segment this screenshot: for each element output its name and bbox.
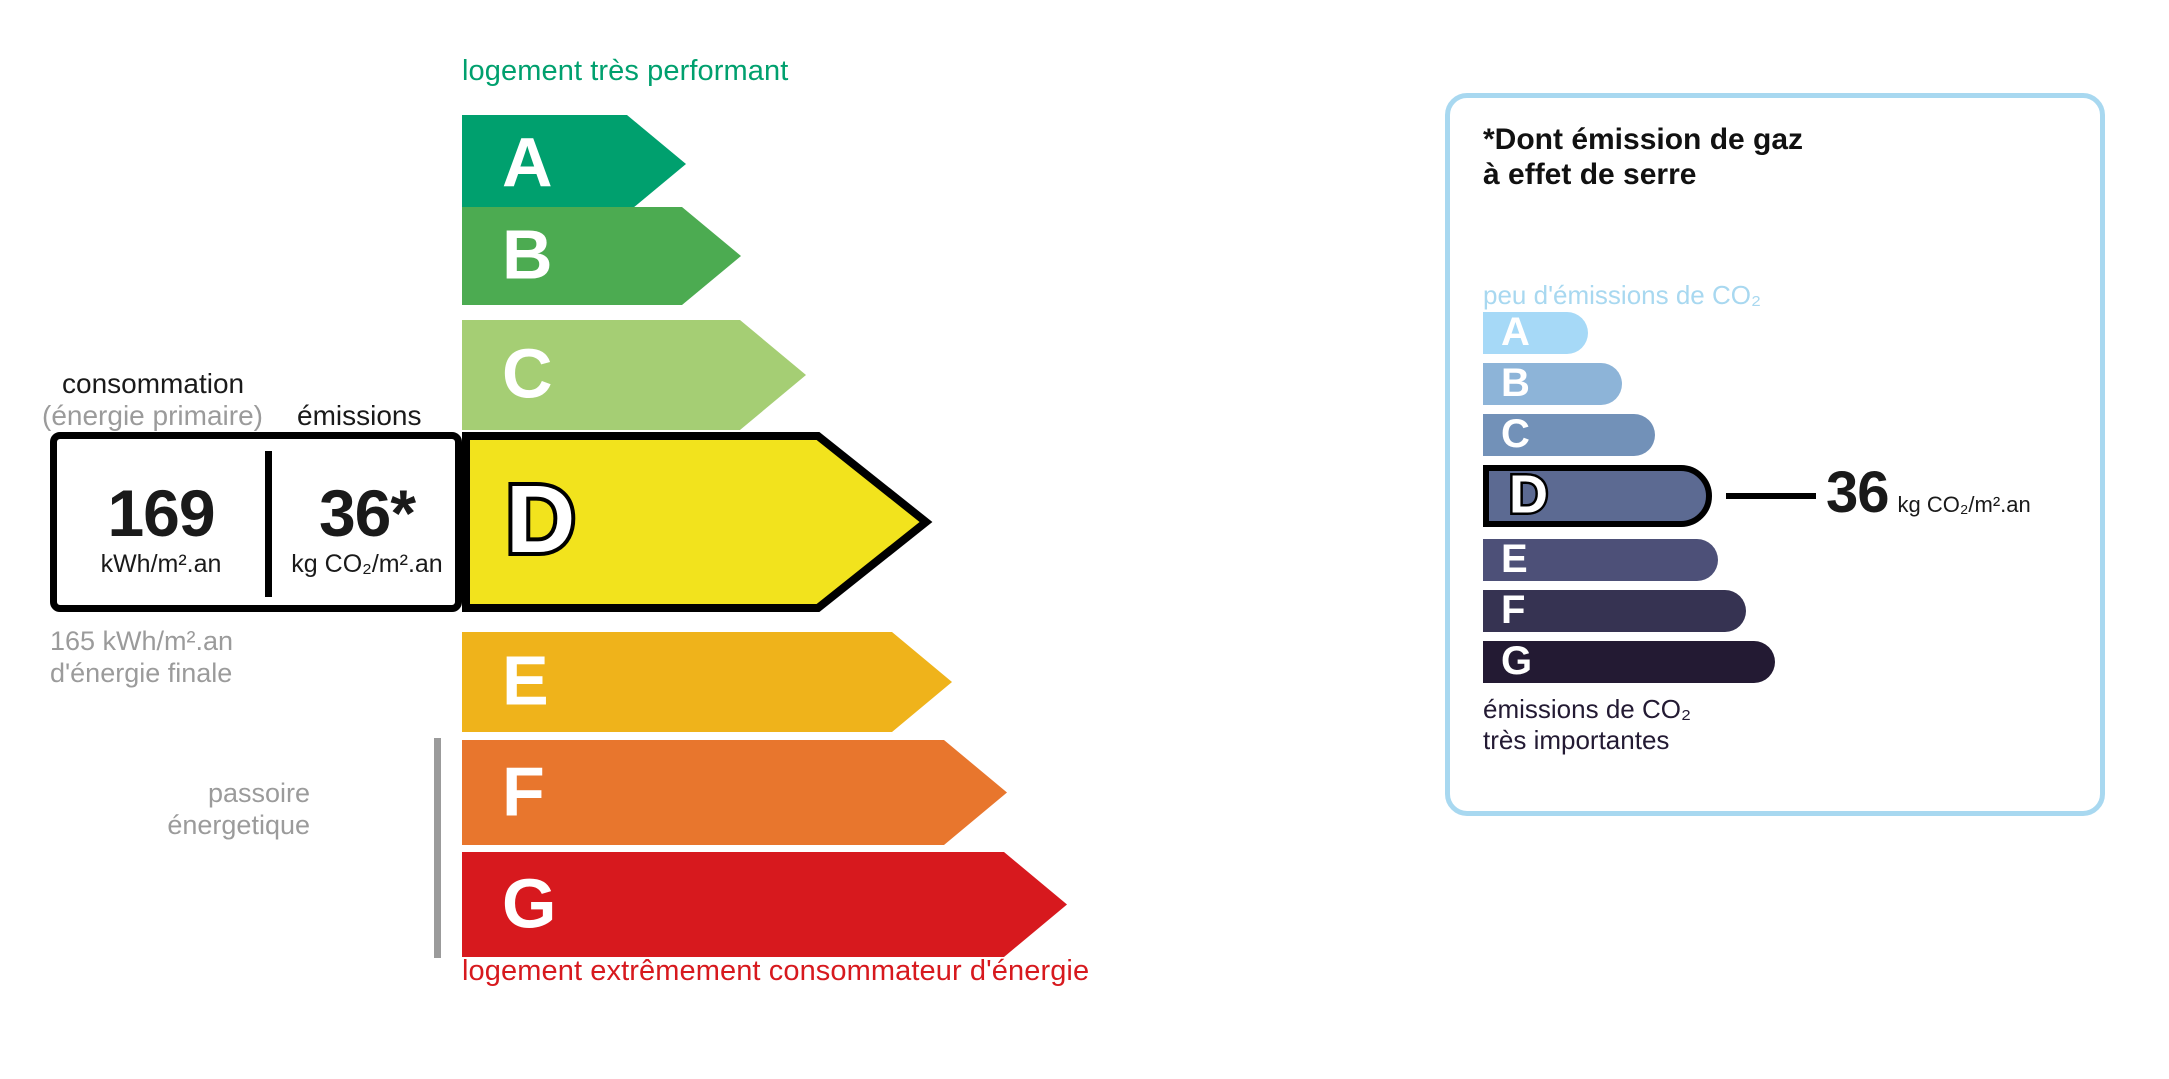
co2-bar-b: B: [1483, 363, 1622, 405]
energy-bottom-caption: logement extrêmement consommateur d'éner…: [462, 955, 1089, 988]
co2-title-line1: *Dont émission de gaz: [1483, 122, 1803, 157]
co2-bar-letter: A: [1501, 312, 1530, 352]
co2-value-unit: kg CO₂/m².an: [1898, 494, 2031, 516]
co2-value-connector: [1726, 493, 1816, 499]
passoire-line2: énergetique: [110, 809, 310, 841]
energy-bar-e: E: [462, 632, 964, 732]
emission-value: 36*: [319, 480, 415, 546]
co2-bar-c: C: [1483, 414, 1655, 456]
co2-bar-letter: F: [1501, 590, 1525, 630]
primary-energy-label: (énergie primaire): [42, 400, 263, 432]
consumption-label: consommation: [62, 368, 244, 400]
co2-bar-g: G: [1483, 641, 1775, 683]
passoire-bracket: [434, 738, 441, 958]
co2-panel-title: *Dont émission de gaz à effet de serre: [1483, 122, 1803, 193]
energy-bar-letter: G: [502, 868, 556, 938]
energy-bar-letter: C: [502, 339, 553, 409]
co2-top-caption: peu d'émissions de CO₂: [1483, 280, 1761, 311]
energy-bar-letter: B: [502, 220, 553, 290]
co2-bar-letter: G: [1501, 641, 1532, 681]
energy-bar-c: C: [462, 320, 818, 430]
co2-bottom-line1: émissions de CO₂: [1483, 694, 1691, 725]
final-energy-text: d'énergie finale: [50, 657, 233, 689]
consumption-value: 169: [107, 480, 214, 546]
energy-bar-f: F: [462, 740, 1019, 845]
passoire-line1: passoire: [110, 777, 310, 809]
emissions-label: émissions: [297, 400, 421, 432]
co2-bar-letter: B: [1501, 363, 1530, 403]
energy-bar-g: G: [462, 852, 1079, 957]
co2-bar-letter: D: [1509, 467, 1548, 521]
energy-bar-a: A: [462, 115, 698, 213]
co2-bar-f: F: [1483, 590, 1746, 632]
co2-bar-letter: E: [1501, 539, 1528, 579]
co2-value-number: 36: [1826, 464, 1889, 522]
co2-bar-d: D: [1483, 465, 1712, 527]
energy-bar-d: D: [462, 432, 934, 612]
final-energy-value: 165 kWh/m².an: [50, 625, 233, 657]
energy-bar-letter: E: [502, 646, 549, 716]
energy-bar-letter: A: [502, 128, 553, 198]
value-box-divider: [265, 451, 272, 597]
emission-cell: 36* kg CO₂/m².an: [272, 453, 462, 603]
consumption-unit: kWh/m².an: [101, 552, 222, 577]
emission-unit: kg CO₂/m².an: [291, 552, 442, 577]
value-box: 169 kWh/m².an 36* kg CO₂/m².an: [50, 432, 462, 612]
passoire-label: passoire énergetique: [110, 777, 310, 842]
energy-top-caption: logement très performant: [462, 55, 788, 88]
co2-bar-e: E: [1483, 539, 1718, 581]
co2-title-line2: à effet de serre: [1483, 157, 1803, 192]
consumption-cell: 169 kWh/m².an: [57, 453, 265, 603]
co2-value-readout: 36kg CO₂/m².an: [1826, 464, 2031, 522]
final-energy-note: 165 kWh/m².an d'énergie finale: [50, 625, 233, 690]
co2-bottom-caption: émissions de CO₂ très importantes: [1483, 694, 1691, 756]
energy-bar-letter: D: [506, 472, 575, 568]
co2-bar-letter: C: [1501, 414, 1530, 454]
co2-bar-a: A: [1483, 312, 1588, 354]
energy-bar-letter: F: [502, 756, 545, 826]
dpe-diagram: logement très performant ABCDEFG consomm…: [0, 0, 2169, 1079]
co2-bottom-line2: très importantes: [1483, 725, 1691, 756]
energy-bar-b: B: [462, 207, 753, 305]
